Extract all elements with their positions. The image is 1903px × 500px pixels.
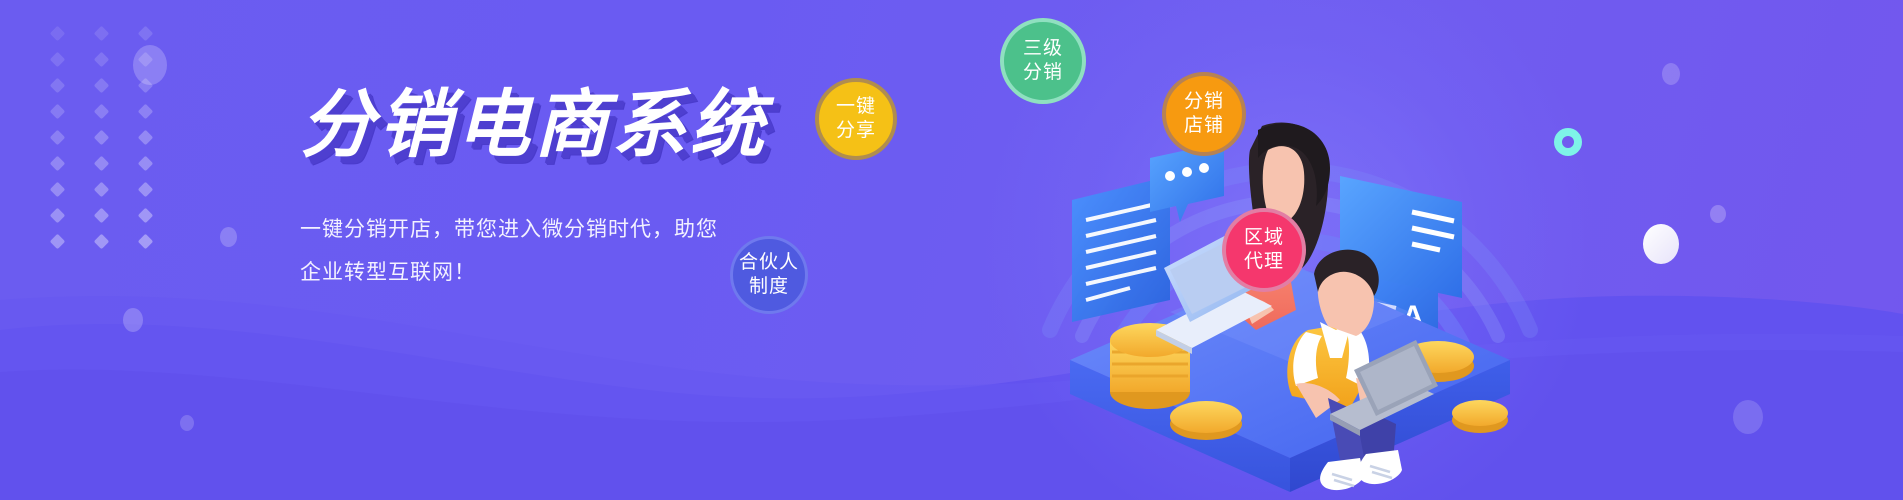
bubble-regional-agent[interactable]: 区域 代理 <box>1222 208 1306 292</box>
bubble-three-level-distribution-line1: 三级 <box>1023 37 1063 61</box>
decor-blob-mid-left <box>220 227 237 247</box>
bubble-distribution-store-line1: 分销 <box>1184 90 1224 114</box>
decor-blob-right-white <box>1643 224 1679 264</box>
bubble-partner-system-line1: 合伙人 <box>739 251 799 275</box>
coin-single-far-right <box>1452 400 1508 433</box>
bubble-three-level-distribution[interactable]: 三级 分销 <box>1000 18 1086 104</box>
bubble-one-click-share-line2: 分享 <box>836 119 876 143</box>
decor-blob-bottom-left <box>180 415 194 431</box>
subtitle-line-2: 企业转型互联网！ <box>300 251 770 294</box>
bubble-one-click-share-line1: 一键 <box>836 95 876 119</box>
promo-banner: 分销电商系统 一键分销开店，带您进入微分销时代，助您 企业转型互联网！ <box>0 0 1903 500</box>
subtitle-line-1: 一键分销开店，带您进入微分销时代，助您 <box>300 208 770 251</box>
coin-single-left <box>1170 401 1242 440</box>
bubble-three-level-distribution-line2: 分销 <box>1023 61 1063 85</box>
bubble-partner-system-line2: 制度 <box>749 275 789 299</box>
bubble-regional-agent-line1: 区域 <box>1244 226 1284 250</box>
decor-blob-right-low <box>1733 400 1763 434</box>
decor-blob-right-small <box>1710 205 1726 223</box>
bubble-one-click-share[interactable]: 一键 分享 <box>815 78 897 160</box>
bubble-partner-system[interactable]: 合伙人 制度 <box>730 236 808 314</box>
headline-block: 分销电商系统 一键分销开店，带您进入微分销时代，助您 企业转型互联网！ <box>300 88 770 294</box>
background-waves <box>0 0 1903 500</box>
page-title: 分销电商系统 <box>300 88 770 162</box>
bubble-distribution-store-line2: 店铺 <box>1184 114 1224 138</box>
bubble-regional-agent-line2: 代理 <box>1244 250 1284 274</box>
decor-blob-top-left <box>133 45 167 85</box>
page-subtitle: 一键分销开店，带您进入微分销时代，助您 企业转型互联网！ <box>300 208 770 294</box>
decor-blob-low-left <box>123 308 143 332</box>
bubble-distribution-store[interactable]: 分销 店铺 <box>1162 72 1246 156</box>
decor-blob-right-top <box>1662 63 1680 85</box>
